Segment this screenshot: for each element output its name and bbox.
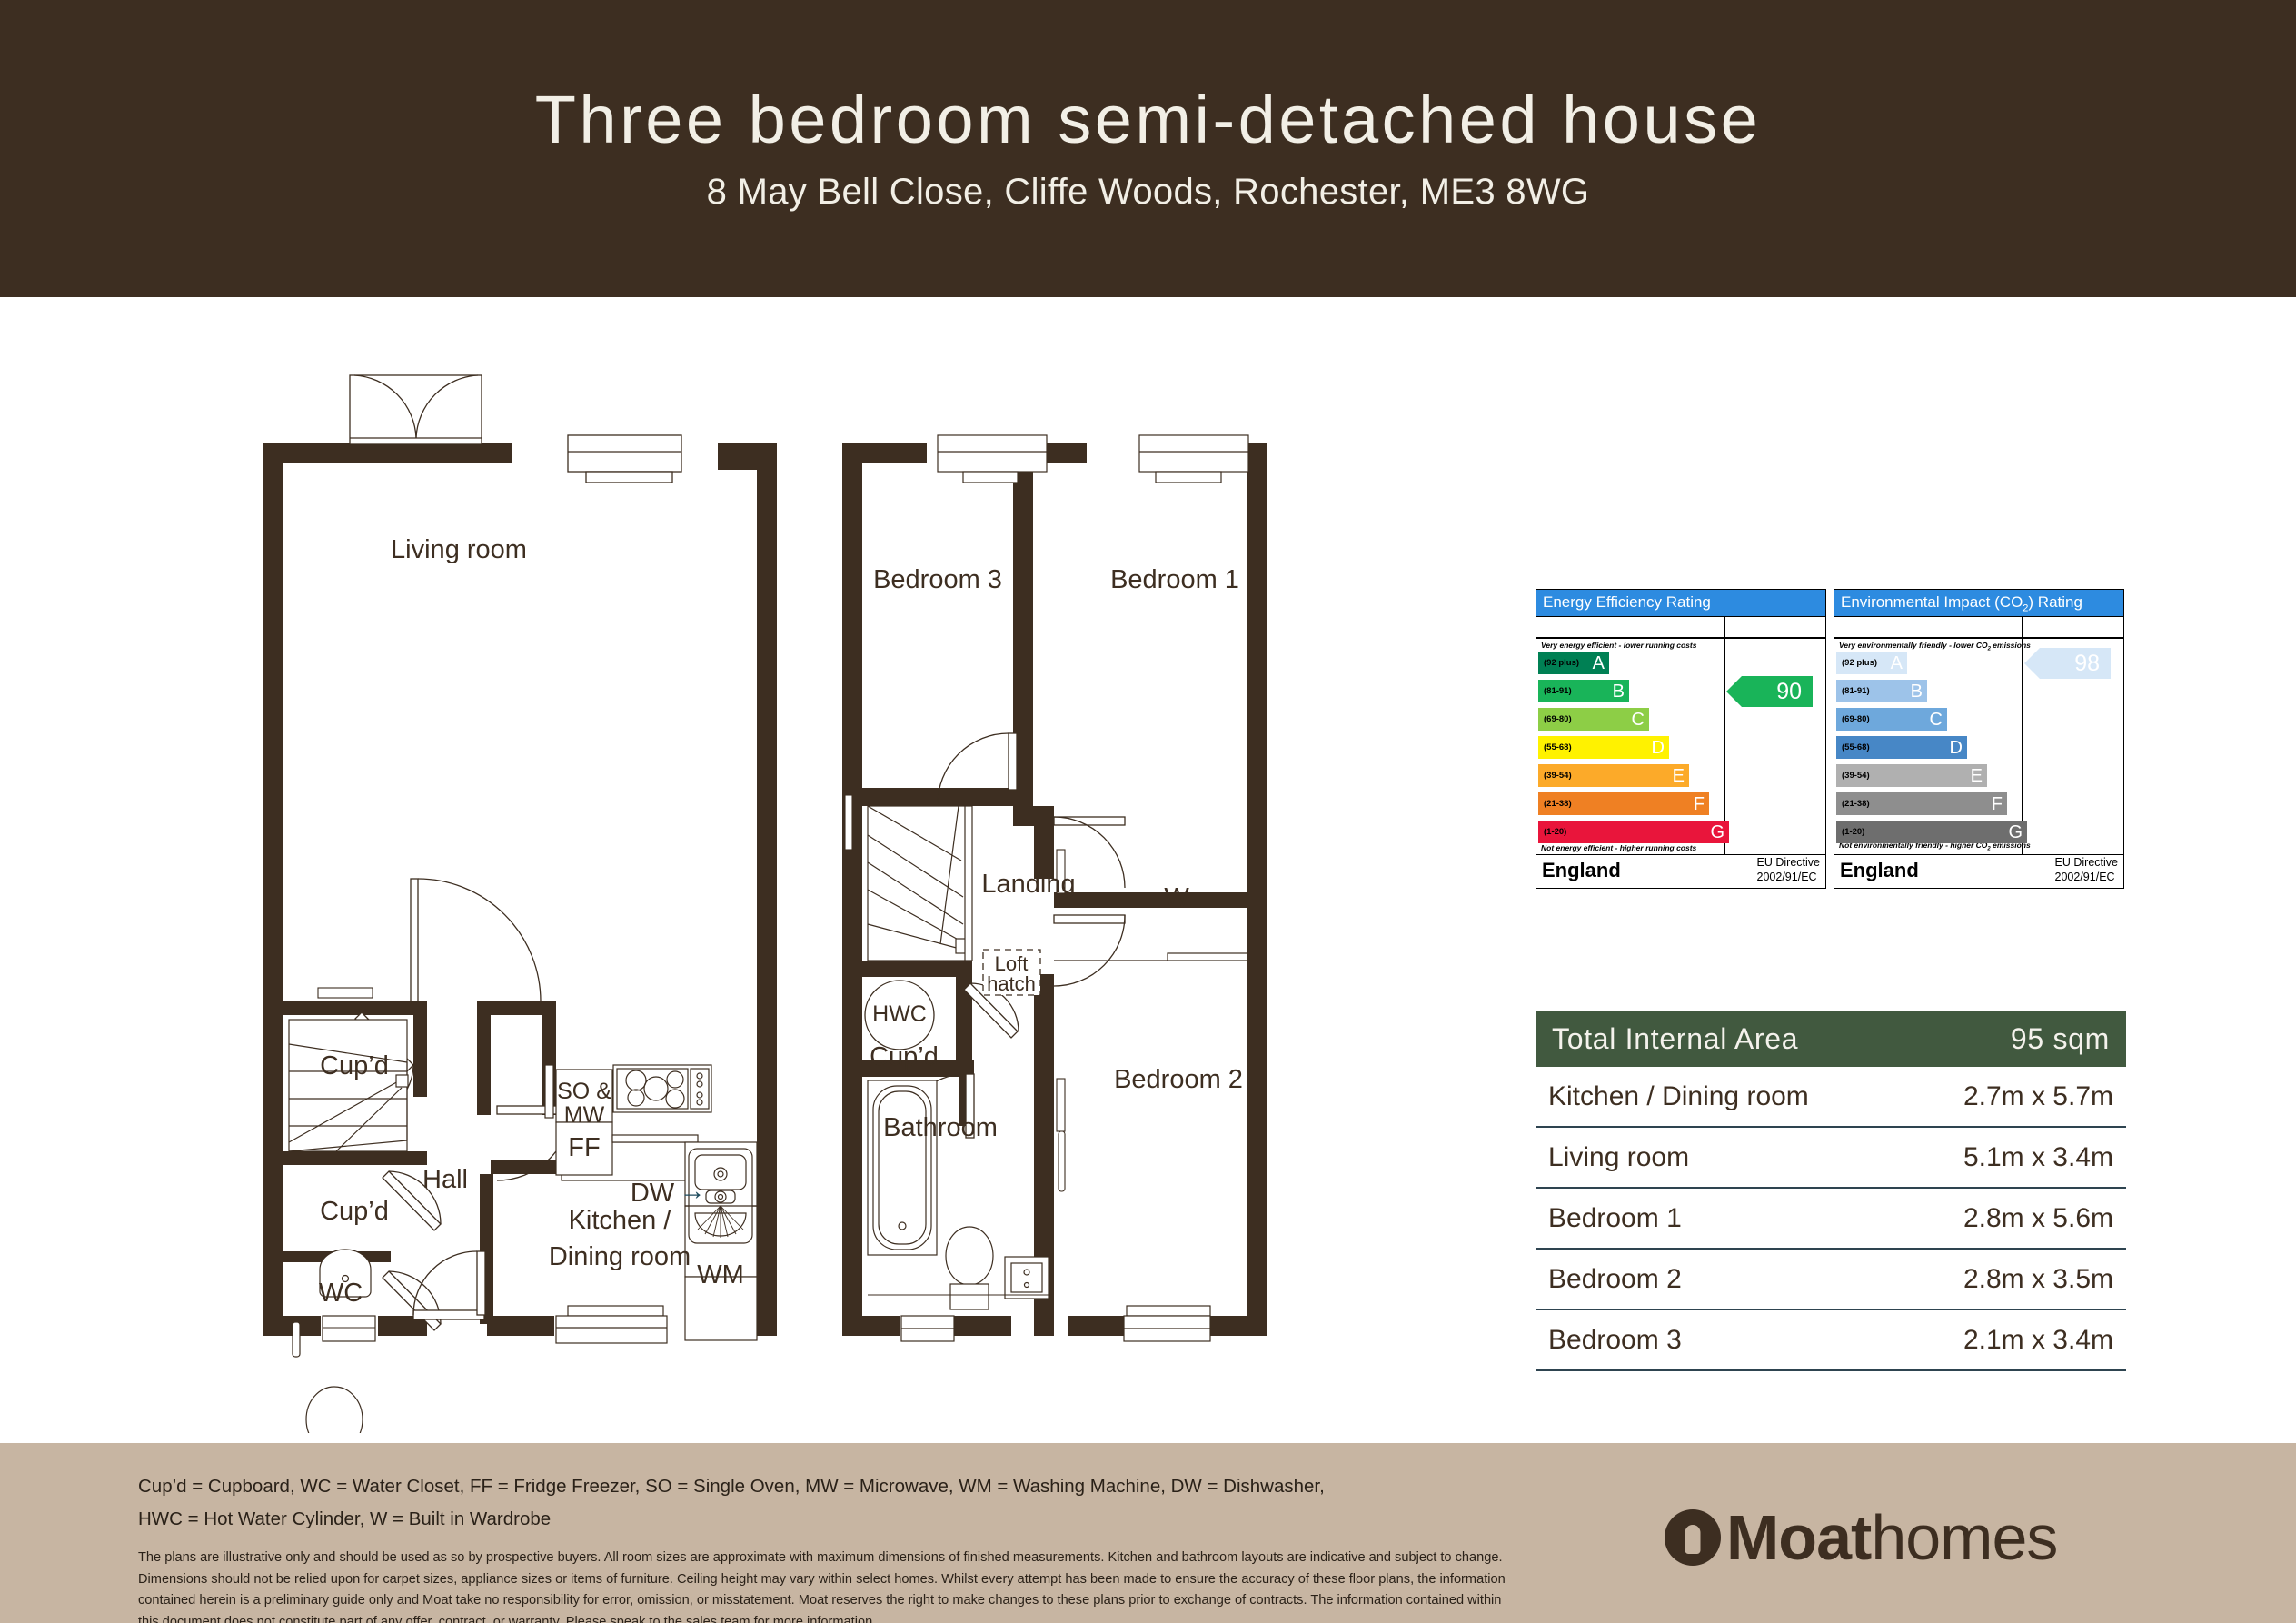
epc-band-e: (39-54)E (1538, 764, 1689, 787)
logo-text-moat: Moat (1726, 1501, 1871, 1574)
energy-top-note: Very energy efficient - lower running co… (1541, 641, 1696, 650)
dishwasher-arrow-icon: → (680, 1177, 706, 1207)
epc-band-letter: B (1911, 682, 1923, 701)
room-label-wc: WC (319, 1279, 363, 1309)
wc-rear-window (323, 1316, 375, 1341)
room-label-cupboard-lower: Cup’d (320, 1197, 389, 1227)
epc-band-letter: D (1652, 739, 1665, 757)
env-title-pre: Environmental Impact (CO (1841, 593, 2023, 611)
chart-top-rule (1834, 637, 2123, 639)
moat-logo-mark-icon (1665, 1509, 1721, 1566)
room-label-bathroom: Bathroom (883, 1113, 998, 1143)
env-title-post: ) Rating (2028, 593, 2082, 611)
room-label-cupboard-upper: Cup’d (320, 1051, 389, 1081)
env-country-label: England (1840, 859, 2055, 882)
energy-chart-body: Very energy efficient - lower running co… (1536, 617, 1825, 855)
area-table-row: Living room5.1m x 3.4m (1536, 1128, 2126, 1189)
epc-band-d: (55-68)D (1538, 736, 1669, 759)
wardrobe-label-W: W (1164, 883, 1188, 913)
area-row-label: Bedroom 1 (1548, 1203, 1682, 1234)
room-label-bedroom-3: Bedroom 3 (873, 565, 1002, 595)
page-header: Three bedroom semi-detached house 8 May … (0, 0, 2296, 297)
room-label-kitchen-line2: Dining room (549, 1242, 691, 1272)
epc-band-range: (55-68) (1544, 742, 1572, 752)
page-title: Three bedroom semi-detached house (535, 85, 1762, 155)
disclaimer-text: The plans are illustrative only and shou… (138, 1548, 1519, 1623)
appliance-label-so-line2: MW (564, 1102, 604, 1129)
env-top-note-pre: Very environmentally friendly - lower CO (1839, 641, 1988, 650)
environmental-current-rating-arrow: 98 (2040, 648, 2111, 679)
area-row-label: Bedroom 2 (1548, 1264, 1682, 1295)
epc-band-range: (55-68) (1842, 742, 1870, 752)
wardrobe-W (1054, 953, 1247, 961)
energy-chart-footer: England EU Directive 2002/91/EC (1536, 855, 1825, 886)
epc-current-value: 98 (2074, 651, 2100, 677)
total-internal-area-table: Total Internal Area 95 sqm Kitchen / Din… (1536, 1011, 2126, 1371)
area-row-value: 2.7m x 5.7m (1963, 1081, 2113, 1112)
abbreviation-key-line2: HWC = Hot Water Cylinder, W = Built in W… (138, 1503, 1325, 1536)
towel-rail-icon (1059, 1131, 1065, 1191)
epc-band-c: (69-80)C (1836, 708, 1947, 731)
epc-band-letter: C (1632, 711, 1645, 729)
ground-staircase (289, 1020, 408, 1151)
room-label-bedroom-1: Bedroom 1 (1110, 565, 1239, 595)
area-table-row: Kitchen / Dining room2.7m x 5.7m (1536, 1067, 2126, 1128)
bathroom-rad (1057, 1079, 1065, 1131)
epc-band-letter: B (1613, 682, 1625, 701)
epc-band-f: (21-38)F (1836, 792, 2007, 815)
epc-band-letter: G (2008, 823, 2023, 841)
moat-homes-logo: Moat homes (1665, 1501, 2057, 1574)
environmental-chart-body: Very environmentally friendly - lower CO… (1834, 617, 2123, 855)
area-row-value: 5.1m x 3.4m (1963, 1142, 2113, 1173)
kitchen-rear-window (556, 1306, 667, 1343)
appliance-label-so-line1: SO & (557, 1079, 611, 1105)
epc-band-c: (69-80)C (1538, 708, 1649, 731)
area-row-label: Kitchen / Dining room (1548, 1081, 1809, 1112)
appliance-label-dw: DW (631, 1179, 674, 1209)
epc-band-g: (1-20)G (1836, 821, 2027, 843)
room-label-kitchen-line1: Kitchen / (569, 1206, 671, 1236)
epc-band-range: (92 plus) (1544, 658, 1579, 668)
room-label-cupboard-first: Cup’d (870, 1042, 939, 1072)
epc-band-range: (1-20) (1544, 827, 1566, 837)
epc-band-g: (1-20)G (1538, 821, 1729, 843)
epc-band-range: (81-91) (1842, 686, 1870, 696)
area-table-row: Bedroom 32.1m x 3.4m (1536, 1310, 2126, 1371)
energy-bottom-note: Not energy efficient - higher running co… (1541, 843, 1696, 852)
epc-band-range: (39-54) (1842, 771, 1870, 781)
room-label-hall: Hall (422, 1165, 468, 1195)
epc-band-range: (21-38) (1544, 799, 1572, 809)
epc-band-range: (21-38) (1842, 799, 1870, 809)
epc-current-value: 90 (1776, 679, 1802, 705)
area-table-header-value: 95 sqm (2011, 1022, 2110, 1056)
bedroom2-door (1054, 915, 1125, 986)
epc-band-letter: A (1891, 654, 1903, 672)
energy-chart-title: Energy Efficiency Rating (1536, 590, 1825, 617)
energy-directive-line1: EU Directive (1757, 856, 1820, 869)
page-subtitle-address: 8 May Bell Close, Cliffe Woods, Rocheste… (707, 172, 1590, 213)
floorplan-page: Three bedroom semi-detached house 8 May … (0, 0, 2296, 1623)
room-label-bedroom-2: Bedroom 2 (1114, 1065, 1243, 1095)
appliance-label-ff: FF (568, 1133, 600, 1163)
epc-band-letter: E (1971, 767, 1983, 785)
epc-band-range: (1-20) (1842, 827, 1864, 837)
chart-column-divider (2022, 617, 2023, 854)
area-table-rows: Kitchen / Dining room2.7m x 5.7mLiving r… (1536, 1067, 2126, 1371)
chart-top-rule (1536, 637, 1825, 639)
living-room-window (568, 435, 681, 483)
epc-band-range: (69-80) (1842, 714, 1870, 724)
logo-text-homes: homes (1871, 1501, 2057, 1574)
epc-band-letter: A (1593, 654, 1605, 672)
epc-band-letter: F (1694, 795, 1705, 813)
first-floor-staircase (868, 806, 972, 961)
energy-country-label: England (1542, 859, 1757, 882)
area-table-row: Bedroom 22.8m x 3.5m (1536, 1250, 2126, 1310)
epc-band-b: (81-91)B (1836, 680, 1927, 702)
abbreviation-key-line1: Cup’d = Cupboard, WC = Water Closet, FF … (138, 1470, 1325, 1503)
env-directive: EU Directive 2002/91/EC (2055, 856, 2118, 884)
loft-hatch-label-line2: hatch (987, 973, 1036, 996)
epc-band-letter: E (1673, 767, 1685, 785)
chart-column-divider (1724, 617, 1725, 854)
epc-band-range: (39-54) (1544, 771, 1572, 781)
area-row-label: Bedroom 3 (1548, 1325, 1682, 1356)
room-label-living-room: Living room (391, 535, 527, 565)
hwc-label: HWC (872, 1001, 927, 1028)
living-room-french-doors (350, 375, 482, 444)
epc-band-f: (21-38)F (1538, 792, 1709, 815)
area-row-label: Living room (1548, 1142, 1689, 1173)
epc-band-d: (55-68)D (1836, 736, 1967, 759)
epc-band-b: (81-91)B (1538, 680, 1629, 702)
first-floor-rear-windows (901, 1306, 1210, 1341)
room-label-landing: Landing (981, 870, 1075, 900)
bedroom1-window (1139, 435, 1248, 483)
environmental-chart-footer: England EU Directive 2002/91/EC (1834, 855, 2123, 886)
abbreviation-key: Cup’d = Cupboard, WC = Water Closet, FF … (138, 1470, 1325, 1536)
env-directive-line1: EU Directive (2055, 856, 2118, 869)
epc-band-letter: D (1950, 739, 1963, 757)
epc-band-a: (92 plus)A (1538, 652, 1609, 674)
area-table-header-label: Total Internal Area (1552, 1022, 1798, 1056)
area-row-value: 2.1m x 3.4m (1963, 1325, 2113, 1356)
epc-band-a: (92 plus)A (1836, 652, 1907, 674)
energy-efficiency-rating-chart: Energy Efficiency Rating Very energy eff… (1536, 589, 1826, 889)
landing-side-window (845, 795, 852, 850)
appliance-label-wm: WM (697, 1260, 744, 1290)
energy-directive-line2: 2002/91/EC (1757, 871, 1817, 883)
env-directive-line2: 2002/91/EC (2055, 871, 2115, 883)
energy-directive: EU Directive 2002/91/EC (1757, 856, 1820, 884)
environmental-chart-title: Environmental Impact (CO2) Rating (1834, 590, 2123, 617)
epc-band-range: (81-91) (1544, 686, 1572, 696)
cupboard-window (318, 988, 373, 998)
env-top-note: Very environmentally friendly - lower CO… (1839, 641, 2031, 652)
area-table-header: Total Internal Area 95 sqm (1536, 1011, 2126, 1067)
epc-band-letter: F (1992, 795, 2003, 813)
area-table-row: Bedroom 12.8m x 5.6m (1536, 1189, 2126, 1250)
living-room-door (411, 879, 541, 1001)
floorplans-area: Living room Cup’d Cup’d WC Hall Kitchen … (0, 297, 1508, 1433)
area-row-value: 2.8m x 5.6m (1963, 1203, 2113, 1234)
epc-band-range: (92 plus) (1842, 658, 1877, 668)
area-row-value: 2.8m x 3.5m (1963, 1264, 2113, 1295)
energy-current-rating-arrow: 90 (1742, 676, 1813, 707)
epc-band-e: (39-54)E (1836, 764, 1987, 787)
epc-band-range: (69-80) (1544, 714, 1572, 724)
epc-band-letter: G (1710, 823, 1724, 841)
floorplan-drawing (0, 297, 1508, 1433)
environmental-impact-rating-chart: Environmental Impact (CO2) Rating Very e… (1834, 589, 2124, 889)
epc-band-letter: C (1930, 711, 1943, 729)
